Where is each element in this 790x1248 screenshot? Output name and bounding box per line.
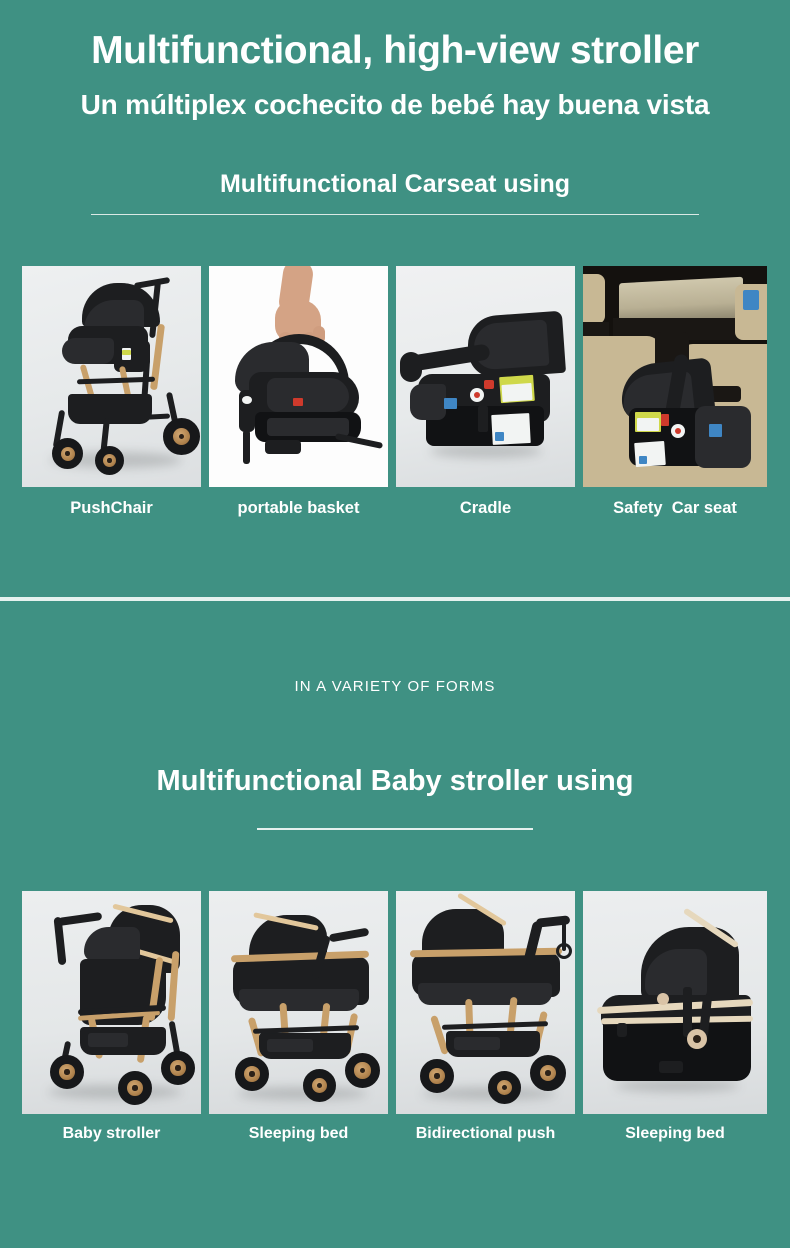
- safety-car-seat-photo: [583, 266, 767, 487]
- stroller-heading-rule: [257, 828, 533, 830]
- carseat-image-row: PushChair: [22, 266, 773, 517]
- stroller-item-bidirectional-push[interactable]: Bidirectional push: [396, 891, 575, 1142]
- carseat-heading: Multifunctional Carseat using: [0, 172, 790, 197]
- carseat-heading-rule: [91, 214, 699, 215]
- portable-basket-photo: [209, 266, 388, 487]
- carseat-item-pushchair[interactable]: PushChair: [22, 266, 201, 517]
- stroller-item-sleeping-bed[interactable]: Sleeping bed: [209, 891, 388, 1142]
- page-subtitle: Un múltiplex cochecito de bebé hay buena…: [0, 70, 790, 119]
- stroller-section-header: Multifunctional Baby stroller using: [0, 767, 790, 830]
- product-infographic: Multifunctional, high-view stroller Un m…: [0, 0, 790, 1248]
- caption-cradle: Cradle: [396, 500, 575, 517]
- stroller-eyebrow: IN A VARIETY OF FORMS: [0, 678, 790, 695]
- carseat-item-portable-basket[interactable]: portable basket: [209, 266, 388, 517]
- carseat-section-header: Multifunctional Carseat using: [0, 119, 790, 215]
- baby-stroller-photo: [22, 891, 201, 1114]
- page-title: Multifunctional, high-view stroller: [0, 0, 790, 70]
- caption-bidirectional-push: Bidirectional push: [396, 1126, 575, 1142]
- detached-bassinet-photo: [583, 891, 767, 1114]
- caption-sleeping-bed-1: Sleeping bed: [209, 1126, 388, 1142]
- sleeping-bed-photo: [209, 891, 388, 1114]
- stroller-item-detached-bassinet[interactable]: Sleeping bed: [583, 891, 767, 1142]
- stroller-item-baby-stroller[interactable]: Baby stroller: [22, 891, 201, 1142]
- caption-sleeping-bed-2: Sleeping bed: [583, 1126, 767, 1142]
- pushchair-photo: [22, 266, 201, 487]
- caption-portable-basket: portable basket: [209, 500, 388, 517]
- caption-baby-stroller: Baby stroller: [22, 1126, 201, 1142]
- stroller-image-row: Baby stroller: [22, 891, 773, 1142]
- caption-pushchair: PushChair: [22, 500, 201, 517]
- bidirectional-push-photo: [396, 891, 575, 1114]
- caption-safety-car-seat: Safety Car seat: [583, 500, 767, 517]
- stroller-heading: Multifunctional Baby stroller using: [0, 767, 790, 796]
- cradle-photo: [396, 266, 575, 487]
- section-divider: [0, 597, 790, 601]
- carseat-item-cradle[interactable]: Cradle: [396, 266, 575, 517]
- carseat-item-safety-car-seat[interactable]: Safety Car seat: [583, 266, 767, 517]
